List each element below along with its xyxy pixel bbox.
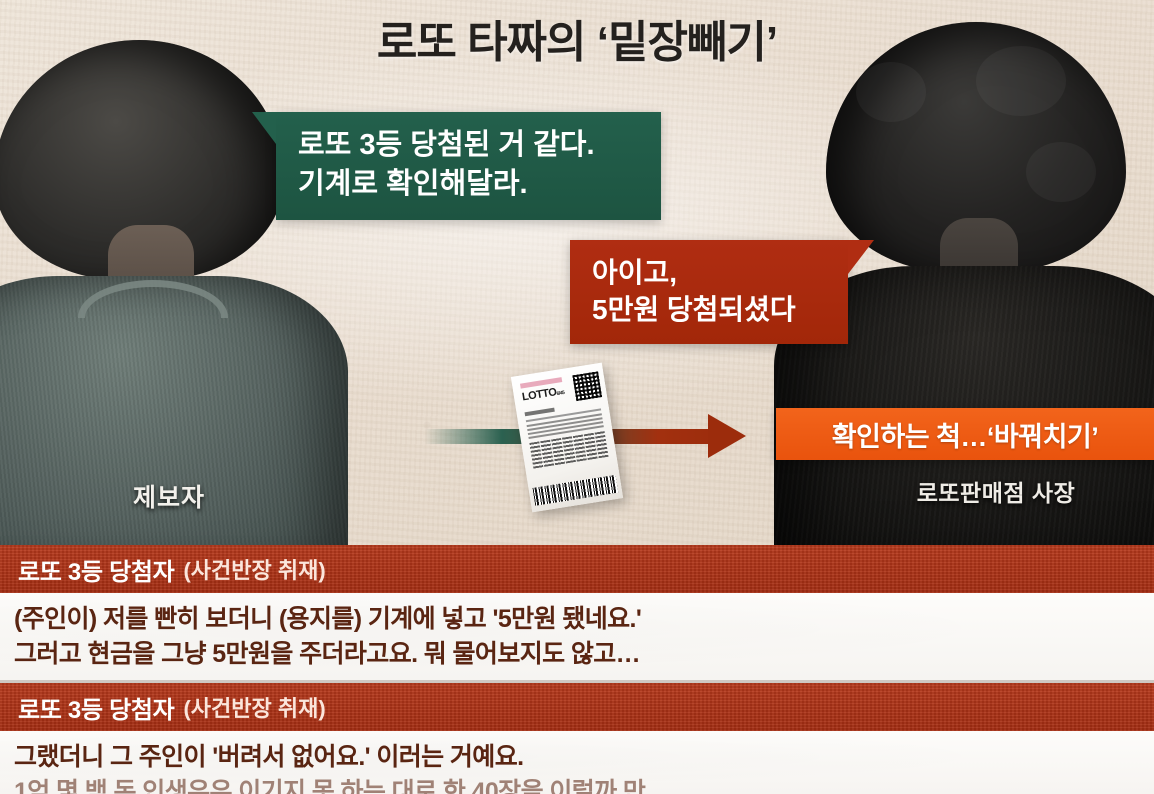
caption-body-1: (주인이) 저를 빤히 보더니 (용지를) 기계에 넣고 '5만원 됐네요.' …: [0, 593, 1154, 680]
caption-line: 그러고 현금을 그냥 5만원을 주더라고요. 뭐 물어보지도 않고…: [14, 637, 1154, 672]
caption-bar-1: 로또 3등 당첨자 (사건반장 취재): [0, 545, 1154, 593]
ticket-logo-sup: 6/45: [556, 390, 565, 397]
caption-bar-2: 로또 3등 당첨자 (사건반장 취재): [0, 683, 1154, 731]
shop-owner-speech-bubble: 아이고, 5만원 당첨되셨다: [570, 240, 848, 344]
bubble-line-2: 5만원 당첨되셨다: [592, 291, 826, 328]
caption-source: (사건반장 취재): [183, 553, 325, 585]
hair-curl: [856, 62, 926, 122]
caption-body-2: 그랬더니 그 주인이 '버려서 없어요.' 이러는 거예요. 1억 몇 백 돈 …: [0, 731, 1154, 794]
broadcast-graphic: 제보자 로또판매점 사장 로또 타짜의 ‘밑장빼기’ 로또 3등 당첨된 거 같…: [0, 0, 1154, 794]
headline-banner-text: 확인하는 척…‘바꿔치기’: [832, 415, 1099, 454]
bubble-line-1: 로또 3등 당첨된 거 같다.: [298, 126, 639, 165]
bubble-line-1: 아이고,: [592, 254, 826, 291]
caption-speaker: 로또 3등 당첨자: [18, 552, 174, 587]
qr-code-icon: [572, 371, 602, 401]
hair-curl: [1026, 142, 1096, 202]
ticket-logo-text: LOTTO: [521, 386, 557, 403]
photo-area: 제보자 로또판매점 사장 로또 타짜의 ‘밑장빼기’ 로또 3등 당첨된 거 같…: [0, 0, 1154, 545]
caption-source: (사건반장 취재): [183, 691, 325, 723]
lottery-ticket-icon: LOTTO6/45: [511, 363, 623, 513]
page-title: 로또 타짜의 ‘밑장빼기’: [0, 6, 1154, 70]
bubble-line-2: 기계로 확인해달라.: [298, 165, 639, 204]
caption-line: 그랬더니 그 주인이 '버려서 없어요.' 이러는 거예요.: [14, 740, 1154, 775]
bubble-tail-icon: [848, 240, 874, 274]
caption-line: (주인이) 저를 빤히 보더니 (용지를) 기계에 넣고 '5만원 됐네요.': [14, 602, 1154, 637]
bubble-tail-icon: [252, 112, 276, 144]
barcode-icon: [532, 475, 618, 506]
shop-owner-caption: 로또판매점 사장: [866, 474, 1126, 508]
informant-speech-bubble: 로또 3등 당첨된 거 같다. 기계로 확인해달라.: [276, 112, 661, 220]
right-arrow-head-icon: [708, 414, 746, 458]
caption-speaker: 로또 3등 당첨자: [18, 690, 174, 725]
headline-banner: 확인하는 척…‘바꿔치기’: [776, 408, 1154, 460]
ticket-subline: [524, 407, 555, 416]
caption-line-truncated: 1억 몇 백 돈 인생유유 이기지 못 하는 대로 한 40장을 이럴까 만: [14, 775, 1154, 794]
informant-caption: 제보자: [74, 478, 264, 514]
